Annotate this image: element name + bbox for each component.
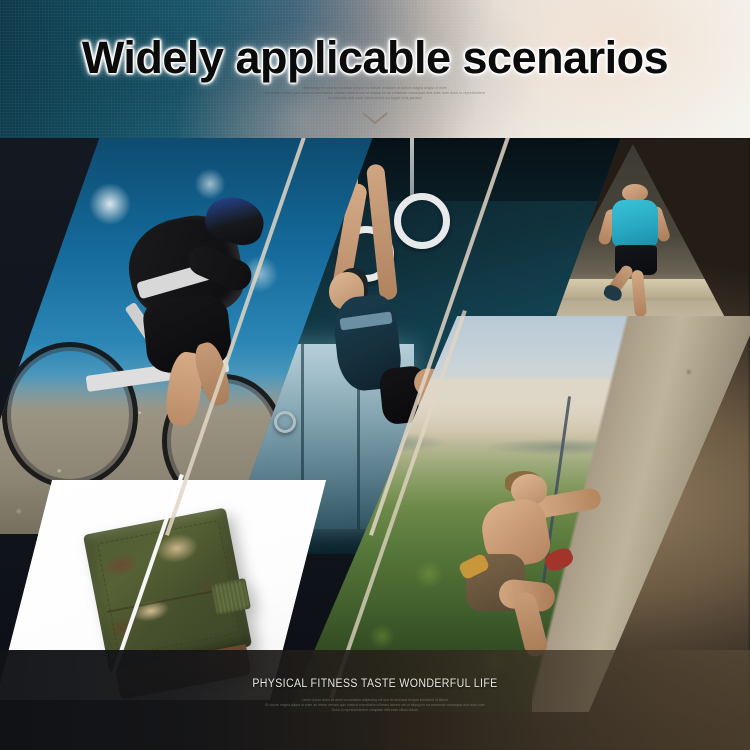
hero-header: Widely applicable scenarios Adipiscing e… xyxy=(0,0,750,140)
banner-stage: Widely applicable scenarios Adipiscing e… xyxy=(0,0,750,750)
footer-bar: PHYSICAL FITNESS TASTE WONDERFUL LIFE Lo… xyxy=(0,650,750,750)
ring-strap-right xyxy=(410,138,414,201)
footer-tagline: PHYSICAL FITNESS TASTE WONDERFUL LIFE xyxy=(30,678,720,690)
footer-fineprint: Lorem ipsum dolor sit amet consectetur a… xyxy=(0,698,750,714)
hero-subtitle-line: In voluptate velit esse cillum dolore eu… xyxy=(0,96,750,101)
climber-figure xyxy=(457,474,598,664)
chevron-down-icon xyxy=(362,112,388,125)
hero-subtitle: Adipiscing elit sed do eiusmod tempor in… xyxy=(0,86,750,101)
cyclist-figure xyxy=(94,198,287,446)
page-title: Widely applicable scenarios xyxy=(0,31,750,85)
runner-figure xyxy=(599,184,675,323)
footer-fineprint-line: Dolor in reprehenderit in voluptate veli… xyxy=(0,708,750,713)
